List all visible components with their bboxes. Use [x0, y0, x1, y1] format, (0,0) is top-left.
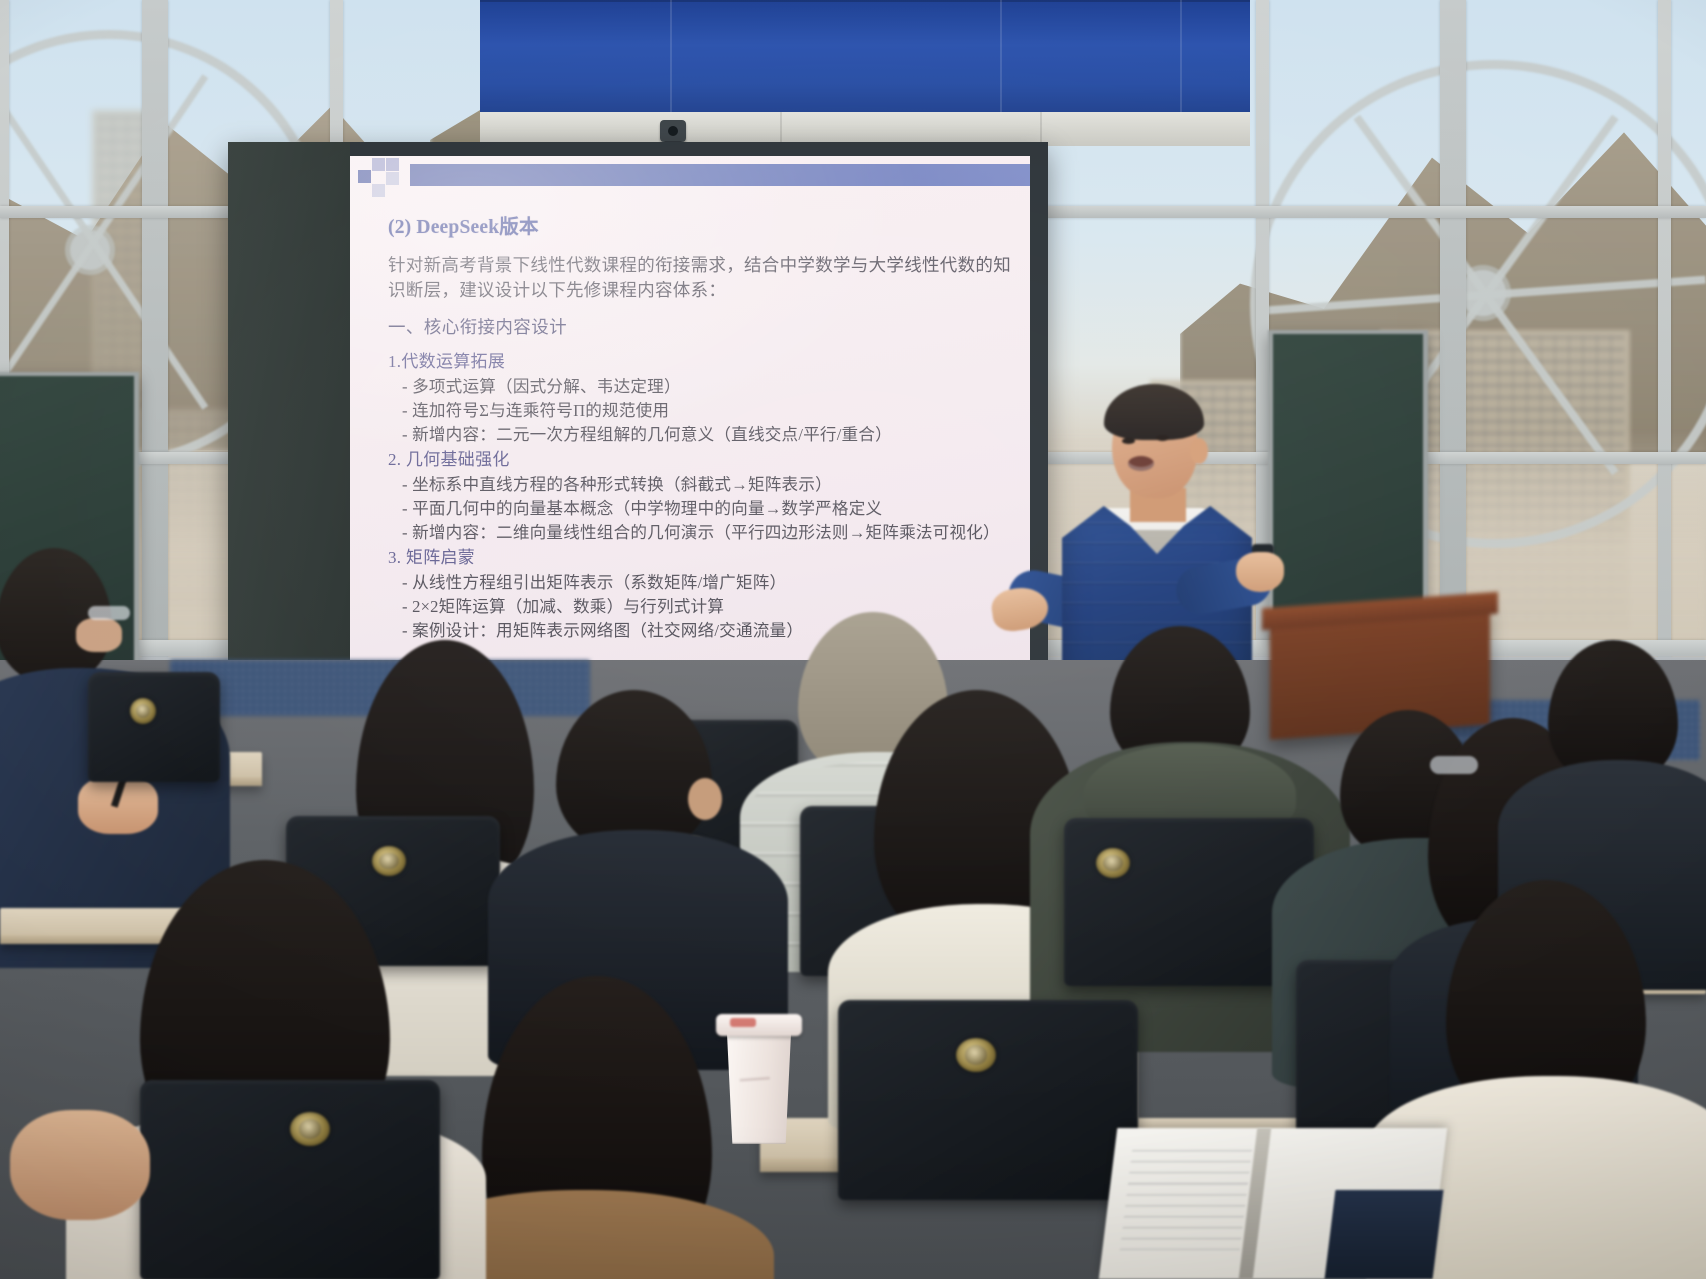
presenter-ear — [1190, 438, 1208, 464]
slide-bullet: - 新增内容：二元一次方程组解的几何意义（直线交点/平行/重合） — [402, 423, 1016, 446]
ear — [688, 778, 722, 820]
notebook-text-lines — [1120, 1150, 1252, 1250]
audience-front-hand — [0, 1060, 230, 1279]
hand — [10, 1110, 150, 1220]
slide-pixel-5 — [386, 158, 399, 171]
slide-bullet: - 多项式运算（因式分解、韦达定理） — [402, 375, 1016, 398]
wall-soffit — [480, 112, 1250, 146]
glasses-icon — [1430, 756, 1478, 774]
slide-pixel-1 — [358, 170, 371, 183]
presenter-hair — [1104, 384, 1204, 440]
notebook-cover — [1325, 1190, 1444, 1279]
chair-emblem — [290, 1112, 330, 1146]
blue-wall-banner — [480, 0, 1250, 112]
presentation-slide: (2) DeepSeek版本 针对新高考背景下线性代数课程的衔接需求，结合中学数… — [350, 156, 1030, 674]
slide-body: (2) DeepSeek版本 针对新高考背景下线性代数课程的衔接需求，结合中学数… — [388, 210, 1016, 674]
slide-title: (2) DeepSeek版本 — [388, 210, 1016, 239]
slide-block-number: 3. 矩阵启蒙 — [388, 546, 1016, 569]
cup-logo — [739, 1059, 772, 1105]
slide-section-heading: 一、核心衔接内容设计 — [388, 315, 1016, 340]
slide-block-number: 2. 几何基础强化 — [388, 448, 1016, 471]
slide-block-number: 1.代数运算拓展 — [388, 350, 1016, 373]
slide-block: 1.代数运算拓展 - 多项式运算（因式分解、韦达定理） - 连加符号Σ与连乘符号… — [388, 350, 1016, 446]
presenter-right-hand — [1236, 552, 1284, 592]
chair-emblem — [130, 698, 156, 724]
glasses-icon — [88, 606, 130, 620]
slide-header-bar — [410, 164, 1030, 186]
projection-screen: (2) DeepSeek版本 针对新高考背景下线性代数课程的衔接需求，结合中学数… — [228, 142, 1048, 684]
presenter-eye-left — [1122, 438, 1135, 444]
slide-bullet: - 平面几何中的向量基本概念（中学物理中的向量→数学严格定义 — [402, 497, 1016, 520]
ceiling-camera-icon — [660, 120, 686, 142]
slide-pixel-3 — [372, 184, 385, 197]
presenter-mouth — [1128, 456, 1154, 471]
slide-bullet: - 坐标系中直线方程的各种形式转换（斜截式→矩阵表示） — [402, 473, 1016, 496]
slide-block: 2. 几何基础强化 - 坐标系中直线方程的各种形式转换（斜截式→矩阵表示） - … — [388, 448, 1016, 544]
presenter-eye-right — [1156, 435, 1169, 441]
slide-paragraph: 针对新高考背景下线性代数课程的衔接需求，结合中学数学与大学线性代数的知识断层，建… — [388, 253, 1016, 303]
slide-pixel-4 — [386, 172, 399, 185]
screen-left-bezel — [228, 142, 350, 684]
chair-emblem — [956, 1038, 996, 1072]
ear — [76, 618, 122, 652]
chair-emblem — [1096, 848, 1130, 878]
slide-bullet: - 从线性方程组引出矩阵表示（系数矩阵/增广矩阵） — [402, 571, 1016, 594]
slide-bullet: - 连加符号Σ与连乘符号Π的规范使用 — [402, 399, 1016, 422]
slide-bullet: - 新增内容：二维向量线性组合的几何演示（平行四边形法则→矩阵乘法可视化） — [402, 521, 1016, 544]
cup-lid — [716, 1014, 802, 1036]
cup-lid-tab — [730, 1018, 756, 1027]
classroom-photo: (2) DeepSeek版本 针对新高考背景下线性代数课程的衔接需求，结合中学数… — [0, 0, 1706, 1279]
chair-back-left — [88, 672, 220, 782]
chair-front-center — [838, 1000, 1138, 1200]
slide-pixel-2 — [372, 158, 385, 171]
